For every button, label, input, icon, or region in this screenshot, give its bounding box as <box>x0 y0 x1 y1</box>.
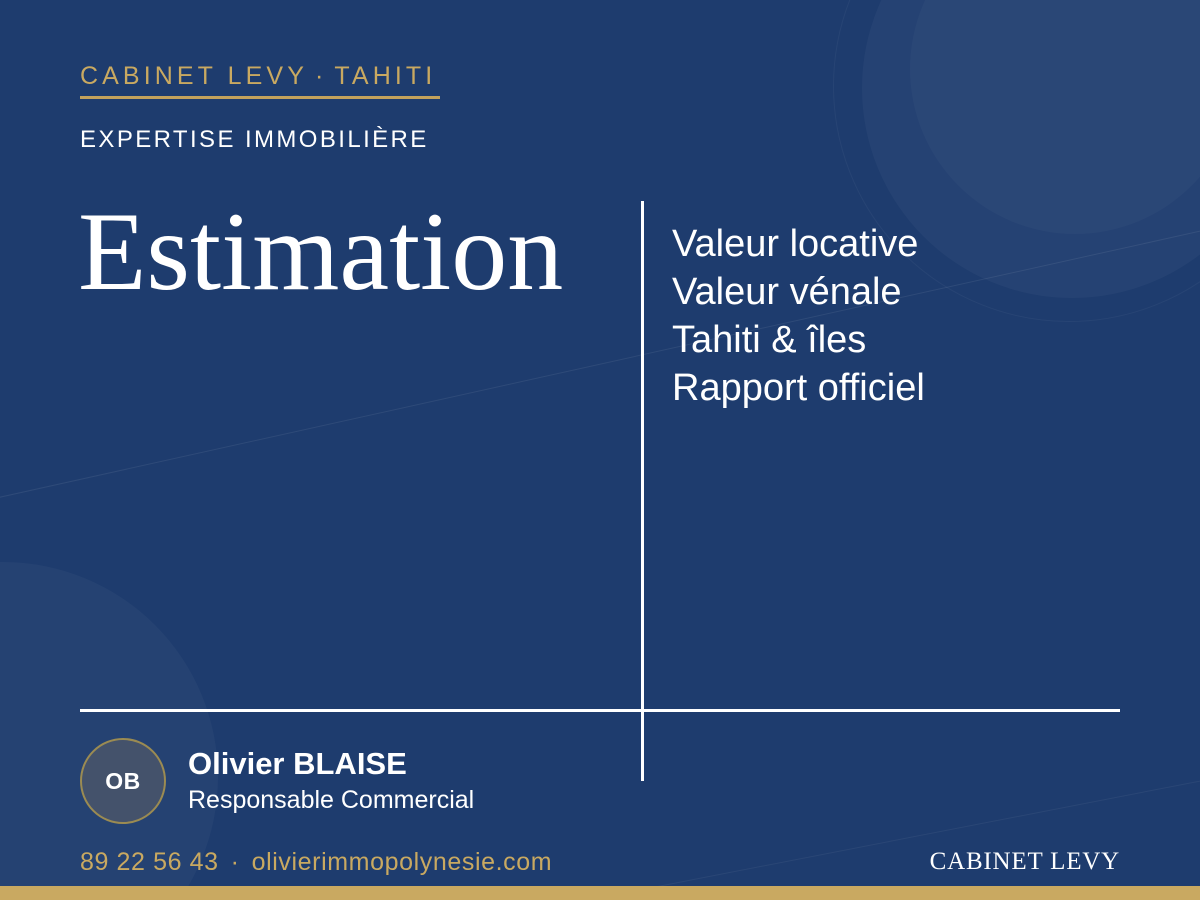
diagonal-line-lower <box>560 760 1200 900</box>
brand-mark: CABINET LEVY <box>930 848 1120 876</box>
brand-eyebrow-location: TAHITI <box>334 62 436 90</box>
feature-list: Valeur locative Valeur vénale Tahiti & î… <box>672 220 925 412</box>
estimation-slide: CABINET LEVY·TAHITI EXPERTISE IMMOBILIÈR… <box>0 0 1200 900</box>
list-item: Valeur vénale <box>672 268 925 316</box>
contact-person-block: OB Olivier BLAISE Responsable Commercial <box>80 738 474 824</box>
person-role: Responsable Commercial <box>188 783 474 817</box>
list-item: Tahiti & îles <box>672 316 925 364</box>
horizontal-divider <box>80 709 1120 712</box>
brand-eyebrow-separator: · <box>308 62 334 90</box>
avatar-initials: OB <box>105 768 141 795</box>
brand-eyebrow: CABINET LEVY·TAHITI <box>80 62 436 91</box>
person-details: Olivier BLAISE Responsable Commercial <box>188 745 474 817</box>
avatar: OB <box>80 738 166 824</box>
vertical-divider <box>641 201 644 781</box>
contact-separator: · <box>219 848 252 876</box>
page-title: Estimation <box>78 196 563 308</box>
list-item: Valeur locative <box>672 220 925 268</box>
person-name: Olivier BLAISE <box>188 745 474 783</box>
brand-eyebrow-name: CABINET LEVY <box>80 62 308 90</box>
bottom-gold-bar <box>0 886 1200 900</box>
circle-inner-top-right-icon <box>910 0 1200 234</box>
contact-line: 89 22 56 43·olivierimmopolynesie.com <box>80 848 552 877</box>
brand-underline-rule <box>80 96 440 99</box>
list-item: Rapport officiel <box>672 364 925 412</box>
website-link[interactable]: olivierimmopolynesie.com <box>252 848 553 876</box>
tagline: EXPERTISE IMMOBILIÈRE <box>80 126 429 154</box>
phone-number[interactable]: 89 22 56 43 <box>80 848 219 876</box>
